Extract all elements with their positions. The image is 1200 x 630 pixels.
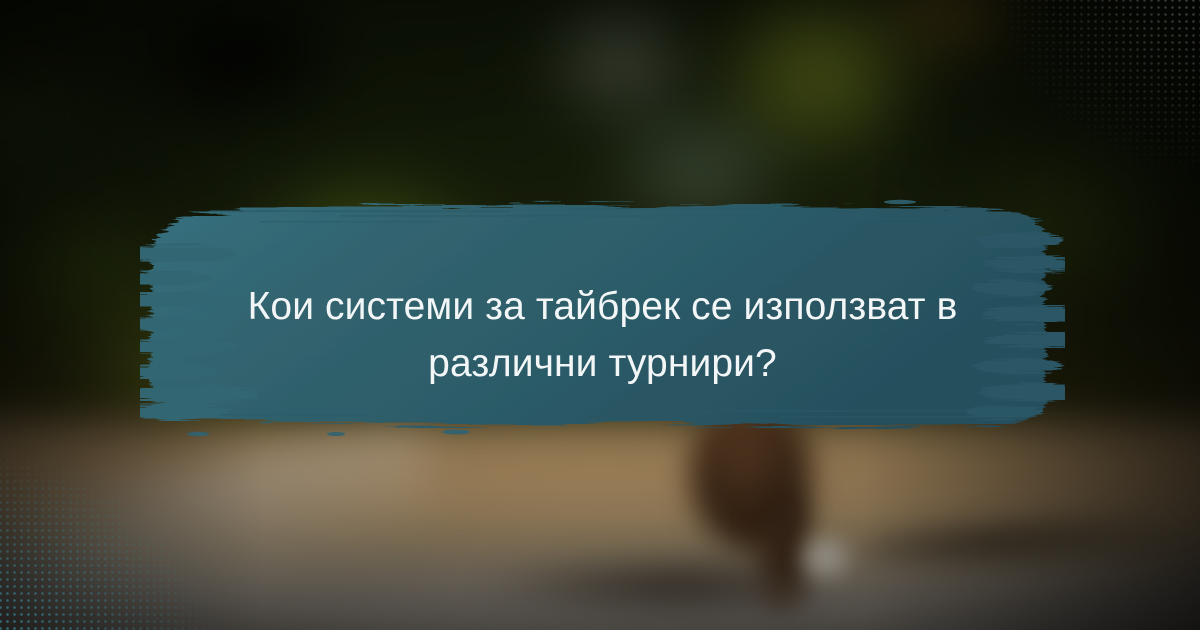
dog-paw: [805, 540, 847, 578]
headline-line-1: Кои системи за тайбрек се използват в: [200, 278, 1005, 335]
headline-line-2: различни турнири?: [200, 335, 1005, 392]
question-card: Кои системи за тайбрек се използват в ра…: [0, 0, 1200, 630]
dog-leg: [760, 490, 806, 610]
page-title: Кои системи за тайбрек се използват в ра…: [200, 278, 1005, 392]
